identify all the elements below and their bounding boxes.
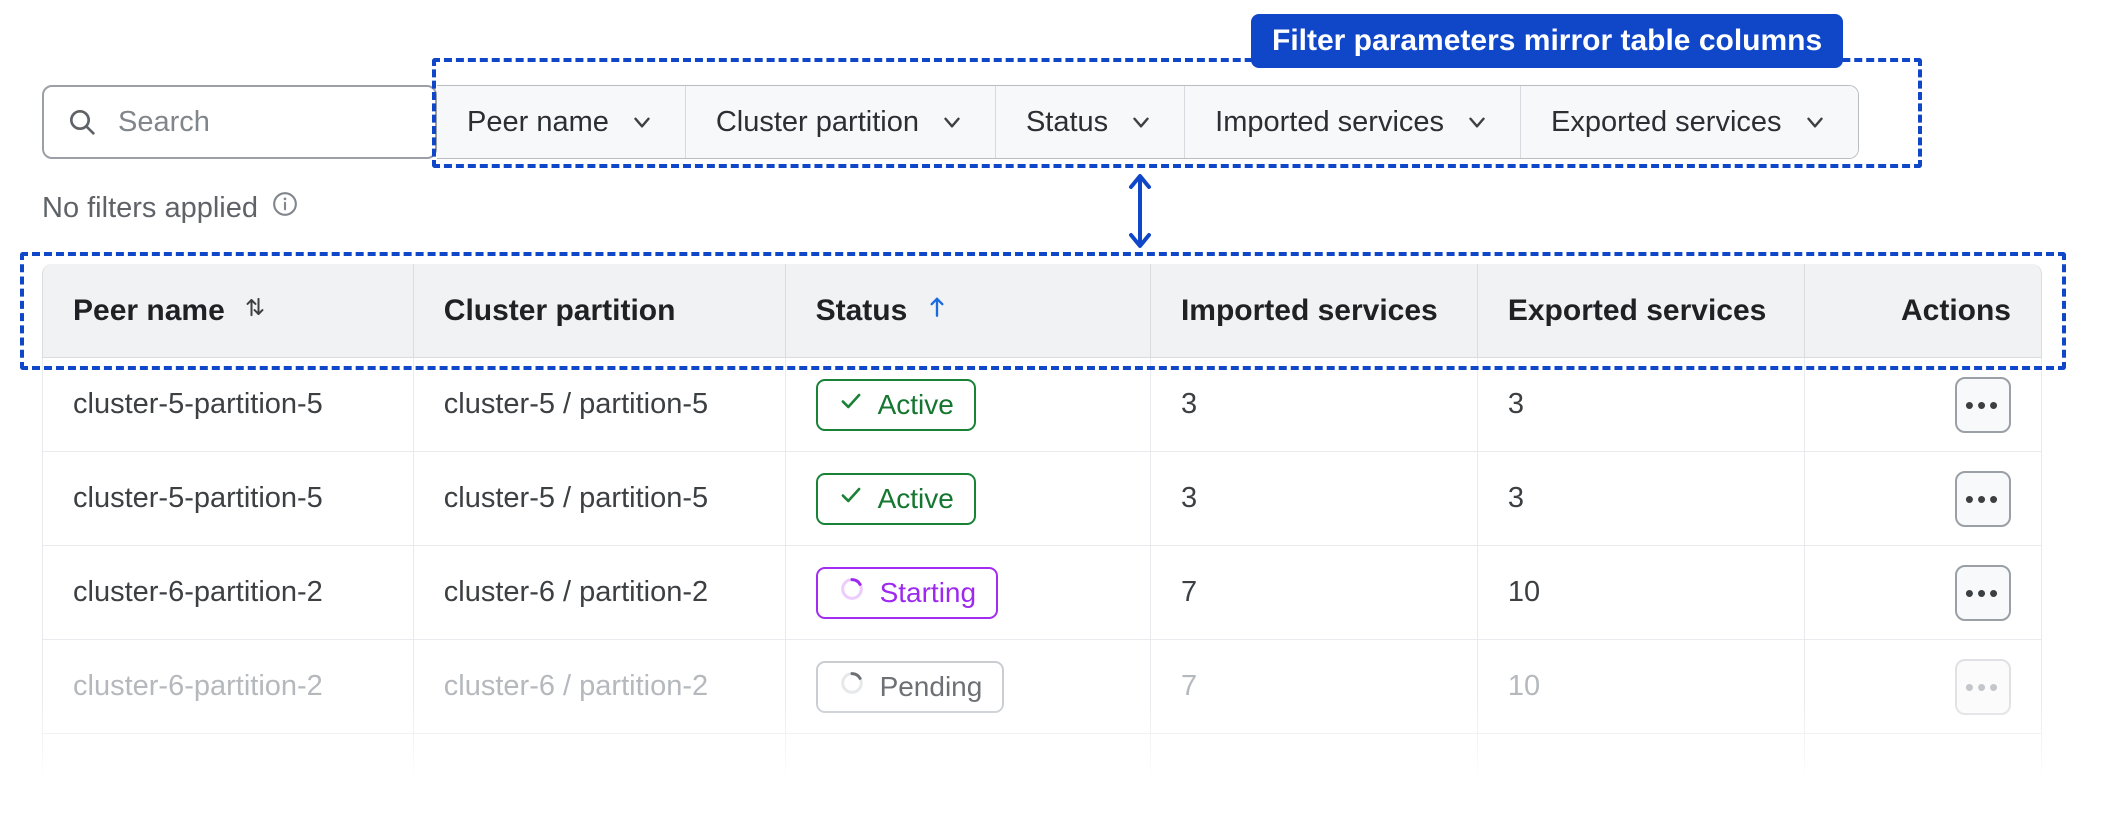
sort-updown-icon[interactable] bbox=[241, 293, 269, 329]
filter-chip-label: Exported services bbox=[1551, 106, 1782, 139]
cell-status bbox=[786, 734, 1151, 816]
filter-status: No filters applied bbox=[42, 190, 299, 226]
cell-cluster-partition: cluster-6 / partition-2 bbox=[414, 546, 786, 640]
column-header-peer-name[interactable]: Peer name bbox=[42, 264, 414, 358]
cell-cluster-partition: cluster-5 / partition-5 bbox=[414, 452, 786, 546]
column-header-label: Actions bbox=[1901, 294, 2011, 328]
cell-peer-name bbox=[42, 734, 414, 816]
cell-imported-services bbox=[1151, 734, 1478, 816]
search-input[interactable] bbox=[116, 105, 413, 140]
cell-imported-services: 3 bbox=[1151, 358, 1478, 452]
cell-actions bbox=[1805, 734, 2042, 816]
chevron-down-icon bbox=[1802, 109, 1828, 135]
cell-imported-services: 7 bbox=[1151, 640, 1478, 734]
chevron-down-icon bbox=[1464, 109, 1490, 135]
column-header-label: Exported services bbox=[1508, 294, 1766, 328]
filter-chip-exported-services[interactable]: Exported services bbox=[1521, 86, 1858, 158]
cell-peer-name: cluster-5-partition-5 bbox=[42, 452, 414, 546]
column-header-label: Status bbox=[816, 294, 908, 328]
cell-status: Pending bbox=[786, 640, 1151, 734]
cell-actions: ••• bbox=[1805, 546, 2042, 640]
filter-chip-label: Status bbox=[1026, 106, 1108, 139]
check-icon bbox=[838, 388, 864, 421]
column-header-cluster-partition[interactable]: Cluster partition bbox=[414, 264, 786, 358]
cell-actions: ••• bbox=[1805, 640, 2042, 734]
filter-chip-cluster-partition[interactable]: Cluster partition bbox=[686, 86, 996, 158]
cell-exported-services: 10 bbox=[1478, 546, 1805, 640]
table-header-row: Peer name Cluster partition bbox=[42, 264, 2042, 358]
cell-status: Starting bbox=[786, 546, 1151, 640]
filter-chip-label: Cluster partition bbox=[716, 106, 919, 139]
cell-exported-services: 3 bbox=[1478, 358, 1805, 452]
status-badge-label: Active bbox=[878, 483, 954, 515]
status-badge: Active bbox=[816, 473, 976, 525]
table-row[interactable]: cluster-5-partition-5 cluster-5 / partit… bbox=[42, 358, 2042, 452]
info-circle-icon[interactable] bbox=[271, 190, 299, 226]
filter-chip-label: Imported services bbox=[1215, 106, 1444, 139]
sort-up-icon[interactable] bbox=[923, 293, 951, 329]
annotation-banner-label: Filter parameters mirror table columns bbox=[1272, 24, 1822, 58]
cell-imported-services: 7 bbox=[1151, 546, 1478, 640]
status-badge-label: Pending bbox=[880, 671, 983, 703]
filter-status-label: No filters applied bbox=[42, 192, 258, 225]
filter-toolbar: Peer name Cluster partition Status Impor… bbox=[42, 85, 1859, 159]
kebab-menu-icon[interactable]: ••• bbox=[1955, 377, 2011, 433]
filter-chip-peer-name[interactable]: Peer name bbox=[437, 86, 686, 158]
column-header-label: Imported services bbox=[1181, 294, 1438, 328]
filter-chip-status[interactable]: Status bbox=[996, 86, 1185, 158]
check-icon bbox=[838, 482, 864, 515]
table-row[interactable]: cluster-6-partition-2 cluster-6 / partit… bbox=[42, 546, 2042, 640]
table-row[interactable]: cluster-5-partition-5 cluster-5 / partit… bbox=[42, 452, 2042, 546]
cell-exported-services: 3 bbox=[1478, 452, 1805, 546]
cell-cluster-partition: cluster-6 / partition-2 bbox=[414, 640, 786, 734]
status-badge: Pending bbox=[816, 661, 1005, 713]
cell-actions: ••• bbox=[1805, 452, 2042, 546]
kebab-menu-icon[interactable]: ••• bbox=[1955, 659, 2011, 715]
spinner-icon bbox=[838, 575, 866, 610]
status-badge-label: Starting bbox=[880, 577, 977, 609]
peers-table: Peer name Cluster partition bbox=[42, 264, 2042, 816]
cell-peer-name: cluster-5-partition-5 bbox=[42, 358, 414, 452]
column-header-label: Peer name bbox=[73, 294, 225, 328]
chevron-down-icon bbox=[1128, 109, 1154, 135]
annotation-banner: Filter parameters mirror table columns bbox=[1251, 14, 1843, 68]
column-header-status[interactable]: Status bbox=[786, 264, 1151, 358]
search-box[interactable] bbox=[42, 85, 437, 159]
cell-actions: ••• bbox=[1805, 358, 2042, 452]
filter-chip-imported-services[interactable]: Imported services bbox=[1185, 86, 1521, 158]
cell-cluster-partition: cluster-5 / partition-5 bbox=[414, 358, 786, 452]
status-badge: Starting bbox=[816, 567, 999, 619]
cell-peer-name: cluster-6-partition-2 bbox=[42, 640, 414, 734]
filter-chip-label: Peer name bbox=[467, 106, 609, 139]
status-badge-label: Active bbox=[878, 389, 954, 421]
filter-chip-group: Peer name Cluster partition Status Impor… bbox=[437, 85, 1859, 159]
kebab-menu-icon[interactable]: ••• bbox=[1955, 565, 2011, 621]
chevron-down-icon bbox=[629, 109, 655, 135]
cell-status: Active bbox=[786, 358, 1151, 452]
peers-table-screen: Peer name Cluster partition Status Impor… bbox=[0, 0, 2118, 816]
cell-imported-services: 3 bbox=[1151, 452, 1478, 546]
search-icon bbox=[66, 106, 98, 138]
column-header-imported-services[interactable]: Imported services bbox=[1151, 264, 1478, 358]
cell-peer-name: cluster-6-partition-2 bbox=[42, 546, 414, 640]
cell-cluster-partition bbox=[414, 734, 786, 816]
table-row[interactable] bbox=[42, 734, 2042, 816]
status-badge: Active bbox=[816, 379, 976, 431]
cell-status: Active bbox=[786, 452, 1151, 546]
chevron-down-icon bbox=[939, 109, 965, 135]
table-row[interactable]: cluster-6-partition-2 cluster-6 / partit… bbox=[42, 640, 2042, 734]
column-header-label: Cluster partition bbox=[444, 294, 676, 328]
column-header-actions: Actions bbox=[1805, 264, 2042, 358]
cell-exported-services: 10 bbox=[1478, 640, 1805, 734]
kebab-menu-icon[interactable]: ••• bbox=[1955, 471, 2011, 527]
annotation-arrow bbox=[1110, 168, 1170, 259]
cell-exported-services bbox=[1478, 734, 1805, 816]
column-header-exported-services[interactable]: Exported services bbox=[1478, 264, 1805, 358]
spinner-icon bbox=[838, 669, 866, 704]
